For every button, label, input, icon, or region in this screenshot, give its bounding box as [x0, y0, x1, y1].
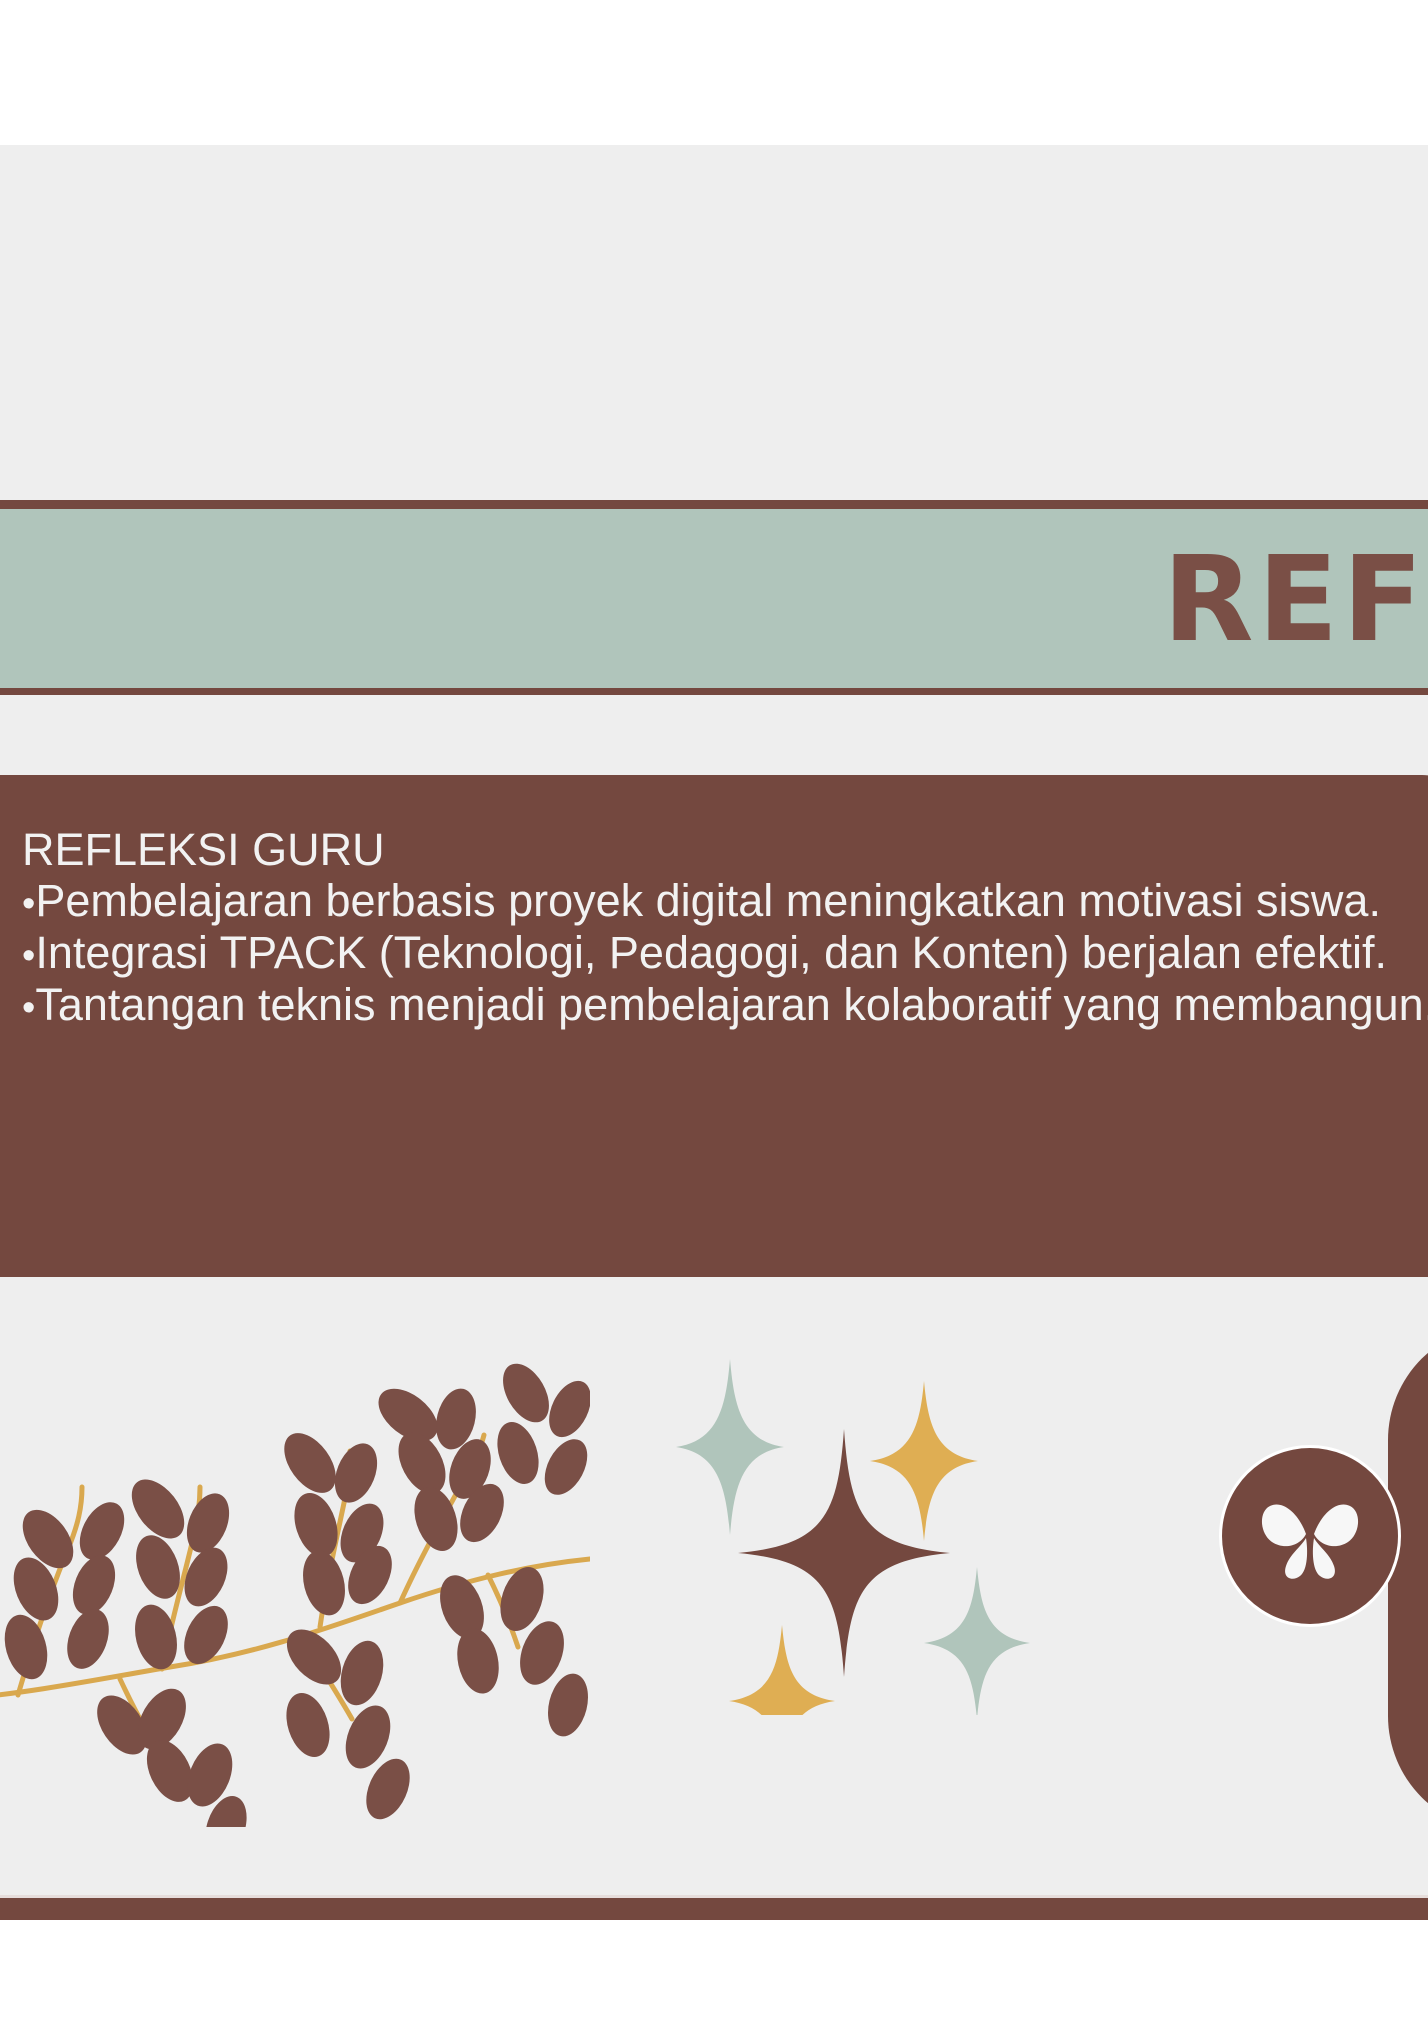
butterfly-icon — [1258, 1490, 1362, 1582]
right-edge-pill-shape — [1388, 1325, 1428, 1831]
reflection-bullet-item: Integrasi TPACK (Teknologi, Pedagogi, da… — [22, 927, 1428, 979]
sparkle-sage-bottom-right — [924, 1567, 1030, 1715]
reflection-bullet-list: Pembelajaran berbasis proyek digital men… — [22, 875, 1428, 1032]
sparkle-gold-bottom-left — [729, 1625, 835, 1715]
reflection-card-heading: REFLEKSI GURU — [22, 827, 1428, 873]
decoration-area — [0, 1277, 1428, 1895]
bottom-accent-bar — [0, 1895, 1428, 1920]
leaf-branch-icon — [0, 1327, 590, 1827]
slide-canvas: REFL REFLEKSI GURU Pembelajaran berbasis… — [0, 145, 1428, 1920]
sparkle-gold-top-right — [870, 1381, 978, 1541]
sparkle-cluster-icon — [672, 1355, 1042, 1715]
butterfly-badge — [1222, 1448, 1398, 1624]
title-band: REFL — [0, 500, 1428, 695]
reflection-bullet-item: Tantangan teknis menjadi pembelajaran ko… — [22, 979, 1428, 1031]
slide-title: REFL — [1163, 540, 1428, 658]
reflection-bullet-item: Pembelajaran berbasis proyek digital men… — [22, 875, 1428, 927]
sparkle-sage-top-left — [676, 1359, 784, 1535]
slide-page: REFL REFLEKSI GURU Pembelajaran berbasis… — [0, 0, 1428, 2018]
reflection-card: REFLEKSI GURU Pembelajaran berbasis proy… — [0, 775, 1428, 1277]
